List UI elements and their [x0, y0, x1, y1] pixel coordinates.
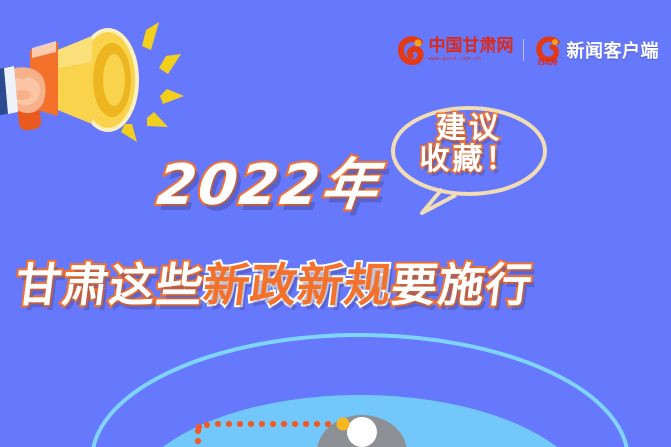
bubble-line-1: 建议: [386, 114, 552, 145]
logo-divider: [523, 39, 524, 61]
app-logo-label: 新闻客户端: [567, 37, 660, 63]
path-end-dot: [337, 418, 350, 431]
site-logo-name: 中国甘肃网: [429, 38, 514, 55]
bubble-text: 建议 收藏！: [386, 114, 552, 175]
app-logo-mark-text: 西北角: [533, 57, 563, 67]
speech-bubble: 建议 收藏！: [386, 103, 552, 215]
headline-part-2: 新政新规: [200, 258, 395, 312]
bubble-line-2: 收藏！: [386, 145, 552, 176]
dotted-path: [195, 421, 331, 444]
year-title: 2022年: [154, 140, 384, 221]
gansu-swirl-logo-icon: [398, 35, 425, 65]
outline-arc: [92, 335, 628, 447]
header-logos: 中国甘肃网 www.gscn.com.cn 西北角 新闻客户端: [398, 30, 660, 70]
avatar-icon: [317, 415, 407, 447]
site-logo[interactable]: 中国甘肃网 www.gscn.com.cn: [398, 35, 514, 65]
megaphone-illustration: [0, 8, 186, 153]
site-logo-url: www.gscn.com.cn: [429, 57, 514, 63]
headline-part-1: 甘肃这些: [12, 258, 207, 312]
app-logo[interactable]: 西北角 新闻客户端: [533, 34, 660, 66]
headline: 甘肃这些新政新规要施行: [12, 249, 537, 315]
headline-part-3: 要施行: [388, 258, 536, 312]
xibeijiao-swirl-logo-icon: 西北角: [533, 34, 563, 66]
light-blue-dome: [128, 395, 592, 447]
poster-canvas: 中国甘肃网 www.gscn.com.cn 西北角 新闻客户端 2022年 建议: [0, 0, 671, 447]
